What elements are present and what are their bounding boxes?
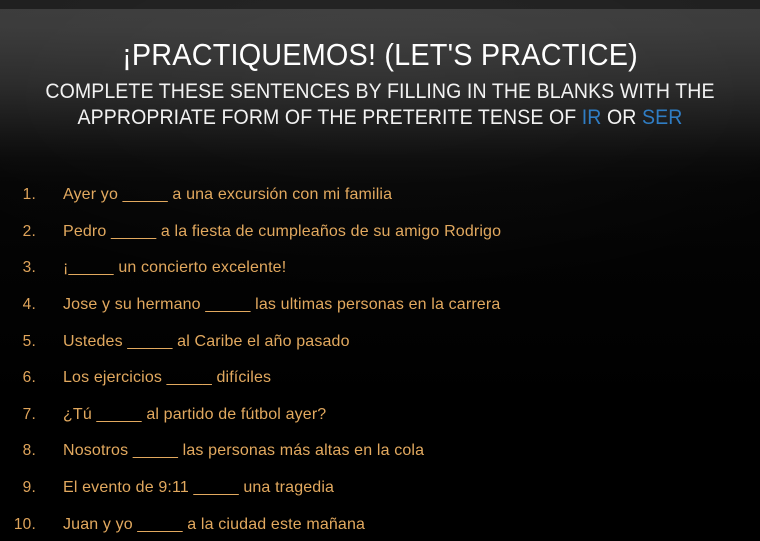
slide-top-bar bbox=[0, 0, 760, 9]
subtitle-text-between-keywords: OR bbox=[601, 106, 642, 129]
list-item-number: 3. bbox=[0, 259, 36, 277]
slide-subtitle-line-1: COMPLETE THESE SENTENCES BY FILLING IN T… bbox=[27, 79, 734, 105]
list-item: 9.El evento de 9:11 _____ una tragedia bbox=[0, 470, 760, 507]
list-item: 3.¡_____ un concierto excelente! bbox=[0, 250, 760, 287]
list-item-text: Juan y yo _____ a la ciudad este mañana bbox=[63, 516, 365, 534]
slide-subtitle: COMPLETE THESE SENTENCES BY FILLING IN T… bbox=[27, 79, 734, 131]
page-title: ¡PRACTIQUEMOS! (LET'S PRACTICE) bbox=[27, 36, 734, 74]
slide-subtitle-line-2: APPROPRIATE FORM OF THE PRETERITE TENSE … bbox=[27, 105, 734, 131]
list-item-number: 7. bbox=[0, 406, 36, 424]
slide-header: ¡PRACTIQUEMOS! (LET'S PRACTICE) COMPLETE… bbox=[0, 36, 760, 131]
list-item: 5.Ustedes _____ al Caribe el año pasado bbox=[0, 323, 760, 360]
keyword-ser: SER bbox=[642, 106, 682, 129]
list-item-number: 4. bbox=[0, 296, 36, 314]
list-item-text: ¡_____ un concierto excelente! bbox=[63, 259, 286, 277]
keyword-ir: IR bbox=[582, 106, 602, 129]
list-item-text: Los ejercicios _____ difíciles bbox=[63, 369, 271, 387]
list-item: 4.Jose y su hermano _____ las ultimas pe… bbox=[0, 287, 760, 324]
list-item-number: 10. bbox=[0, 516, 36, 534]
list-item: 6.Los ejercicios _____ difíciles bbox=[0, 360, 760, 397]
subtitle-text-before-keyword: APPROPRIATE FORM OF THE PRETERITE TENSE … bbox=[78, 106, 582, 129]
list-item-text: Pedro _____ a la fiesta de cumpleaños de… bbox=[63, 223, 501, 241]
list-item-number: 1. bbox=[0, 186, 36, 204]
list-item-number: 6. bbox=[0, 369, 36, 387]
list-item: 8.Nosotros _____ las personas más altas … bbox=[0, 433, 760, 470]
list-item: 1.Ayer yo _____ a una excursión con mi f… bbox=[0, 177, 760, 214]
list-item-text: Ustedes _____ al Caribe el año pasado bbox=[63, 333, 350, 351]
list-item-text: ¿Tú _____ al partido de fútbol ayer? bbox=[63, 406, 326, 424]
list-item-text: Jose y su hermano _____ las ultimas pers… bbox=[63, 296, 500, 314]
list-item: 2.Pedro _____ a la fiesta de cumpleaños … bbox=[0, 214, 760, 251]
list-item-text: Ayer yo _____ a una excursión con mi fam… bbox=[63, 186, 392, 204]
list-item: 7.¿Tú _____ al partido de fútbol ayer? bbox=[0, 397, 760, 434]
list-item: 10.Juan y yo _____ a la ciudad este maña… bbox=[0, 506, 760, 541]
list-item-text: Nosotros _____ las personas más altas en… bbox=[63, 442, 424, 460]
list-item-number: 2. bbox=[0, 223, 36, 241]
list-item-number: 5. bbox=[0, 333, 36, 351]
exercise-list: 1.Ayer yo _____ a una excursión con mi f… bbox=[0, 177, 760, 541]
list-item-number: 8. bbox=[0, 442, 36, 460]
presentation-slide: ¡PRACTIQUEMOS! (LET'S PRACTICE) COMPLETE… bbox=[0, 0, 760, 541]
list-item-number: 9. bbox=[0, 479, 36, 497]
list-item-text: El evento de 9:11 _____ una tragedia bbox=[63, 479, 334, 497]
